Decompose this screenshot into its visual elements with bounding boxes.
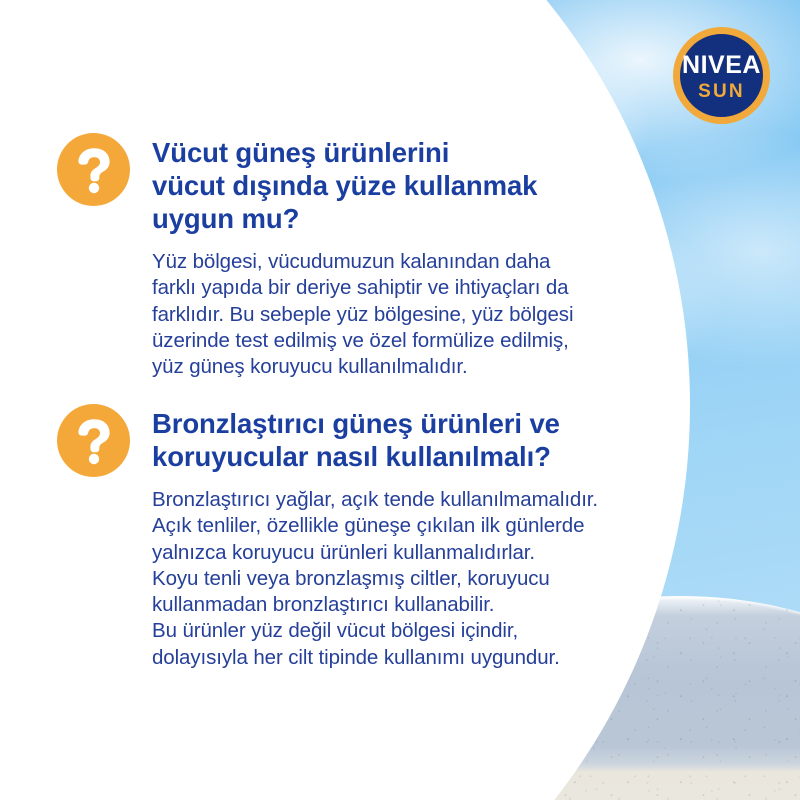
question-mark-badge [57,133,130,206]
question-mark-badge [57,404,130,477]
nivea-sun-logo: NIVEA SUN [673,27,770,124]
faq-answer-text: Bronzlaştırıcı yağlar, açık tende kullan… [152,487,622,671]
question-mark-icon [74,417,114,465]
faq-question-heading: Bronzlaştırıcı güneş ürünleri ve koruyuc… [152,407,622,473]
faq-question-heading: Vücut güneş ürünlerini vücut dışında yüz… [152,136,622,235]
logo-brand-name: NIVEA [682,53,761,78]
question-mark-icon [74,146,114,194]
nivea-sun-faq-card: NIVEA SUN Vücut güneş ürünlerini vücut d… [0,0,800,800]
faq-answer-text: Yüz bölgesi, vücudumuzun kalanından daha… [152,249,622,380]
white-panel-left-fill [0,0,150,800]
logo-sub-brand-name: SUN [698,82,745,101]
